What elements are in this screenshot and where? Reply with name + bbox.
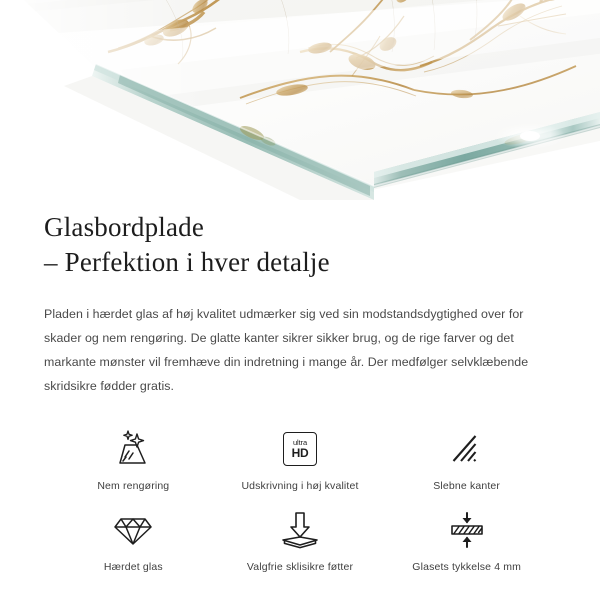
page-title: Glasbordplade – Perfektion i hver detalj… [44, 210, 556, 280]
feature-label: Valgfrie sklisikre føtter [247, 560, 353, 574]
feature-label: Glasets tykkelse 4 mm [412, 560, 521, 574]
feature-glass-thickness: Glasets tykkelse 4 mm [383, 509, 550, 574]
glass-tabletop-illustration [0, 0, 600, 200]
hero-product-image [0, 0, 600, 200]
sparkle-clean-icon [112, 428, 154, 470]
ultra-hd-badge-top: ultra [293, 439, 307, 447]
content-section: Glasbordplade – Perfektion i hver detalj… [0, 200, 600, 574]
page-title-line-2: – Perfektion i hver detalje [44, 245, 556, 280]
feature-high-quality-print: ultra HD Udskrivning i høj kvalitet [217, 428, 384, 493]
page-title-line-1: Glasbordplade [44, 210, 556, 245]
feature-polished-edges: Slebne kanter [383, 428, 550, 493]
feature-label: Udskrivning i høj kvalitet [241, 479, 358, 493]
feature-label: Nem rengøring [97, 479, 169, 493]
polished-edges-icon [449, 428, 485, 470]
ultra-hd-icon: ultra HD [283, 428, 317, 470]
diamond-icon [112, 509, 154, 551]
feature-label: Hærdet glas [104, 560, 163, 574]
product-description: Pladen i hærdet glas af høj kvalitet udm… [44, 302, 556, 398]
thickness-icon [445, 509, 489, 551]
feature-label: Slebne kanter [433, 479, 500, 493]
ultra-hd-badge-bottom: HD [292, 447, 309, 459]
feature-grid: Nem rengøring ultra HD Udskrivning i høj… [44, 428, 556, 574]
feature-easy-cleaning: Nem rengøring [50, 428, 217, 493]
anti-slip-feet-icon [279, 509, 321, 551]
ultra-hd-badge: ultra HD [283, 432, 317, 466]
feature-anti-slip-feet: Valgfrie sklisikre føtter [217, 509, 384, 574]
feature-tempered-glass: Hærdet glas [50, 509, 217, 574]
